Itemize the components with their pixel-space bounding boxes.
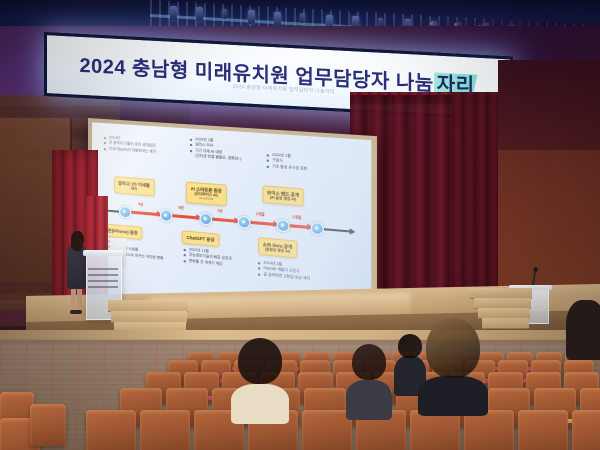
spotlight-icon xyxy=(196,7,203,21)
spotlight-icon xyxy=(274,12,281,26)
audience-seat xyxy=(464,410,514,450)
audience-seat xyxy=(86,410,136,450)
presenter-leg-right xyxy=(77,287,82,311)
above-1-bullets: 2016년큰 충격과 더불어 장차 생겨났던인공지능(AI)이 대중화되는 계기 xyxy=(104,135,156,154)
attendee-shoulders xyxy=(418,376,488,416)
timeline-node xyxy=(276,219,289,233)
spotlight-icon xyxy=(222,9,227,19)
below-2-bullets: 2022년 11월지능정보기술의 빠른 성장과변화를 전 세계가 체감 xyxy=(184,247,232,268)
attendee-head xyxy=(398,334,422,358)
audience-seat xyxy=(30,404,66,446)
timeline-segment-label: 1개월 xyxy=(292,214,301,220)
presenter-hair-back xyxy=(71,238,83,251)
podium-left-top xyxy=(83,250,123,256)
timeline-segment-label: 6년 xyxy=(179,204,184,210)
timeline-segment xyxy=(249,221,275,226)
below-3-chip-subtitle: (동영상 생성 AI) xyxy=(263,247,293,255)
timeline-node xyxy=(238,216,251,230)
audience-seat xyxy=(572,410,600,450)
attendee-head xyxy=(352,344,386,380)
spotlight-icon xyxy=(248,10,255,24)
timeline-node xyxy=(160,209,172,222)
timeline-node xyxy=(311,222,324,236)
below-3-bullets: 2024년 2월OpenAI 개발사 오픈사글 입력하면 고화질 영상 제작 xyxy=(258,260,310,282)
audience-seat xyxy=(302,410,352,450)
above-2-chip: AI 스마트폰 등장(온디바이스 AI)ON-DEVICE xyxy=(186,182,227,206)
above-1-chip: 알파고 VS 이세돌대국 xyxy=(114,176,155,197)
attendee-shoulders xyxy=(346,380,392,420)
above-3-chip: 보이스 밴드 공개(AI 음성 생성 AI) xyxy=(262,185,304,206)
attendee-head xyxy=(426,318,480,378)
below-2-chip-title: ChatGPT 등장 xyxy=(186,234,214,242)
timeline-segment-label: 9년 xyxy=(138,201,143,206)
below-2-chip: ChatGPT 등장 xyxy=(182,230,220,246)
timeline-node xyxy=(200,212,213,225)
auditorium-scene: 2024 충남형 미래유치원 업무담당자 나눔자리 2024 충남형 미래유치원… xyxy=(0,0,600,450)
presenter-shoes xyxy=(70,310,82,314)
above-2-bullets: 2024년 1월갤럭시 S24기기 자체 AI 내장(인터넷 연결 불필요, 정… xyxy=(190,137,241,162)
timeline-node xyxy=(119,206,131,219)
attendee-shoulders xyxy=(231,384,289,424)
audience-seat xyxy=(410,410,460,450)
timeline-segment xyxy=(130,211,159,216)
spotlight-icon xyxy=(170,6,177,20)
attendee-head xyxy=(238,338,282,384)
audience-seat xyxy=(140,410,190,450)
podium-left-text-panel xyxy=(88,268,118,290)
above-3-chip-subtitle: (AI 음성 생성 AI) xyxy=(267,195,299,202)
stage-stairs-right xyxy=(470,288,540,334)
timeline-segment xyxy=(171,214,198,219)
timeline-segment-label: 2년 xyxy=(217,208,222,214)
attendee-edge-right xyxy=(566,300,600,360)
timeline-segment-label: 1개월 xyxy=(256,211,265,217)
presenter-leg-left xyxy=(71,287,76,311)
below-3-chip: 소라 Sora 공개(동영상 생성 AI) xyxy=(258,237,297,259)
stair-step xyxy=(482,318,529,329)
timeline-segment xyxy=(211,217,236,222)
spotlight-icon xyxy=(300,13,305,23)
timeline-segment xyxy=(288,224,309,229)
audience-seat xyxy=(518,410,568,450)
above-3-bullets: 2024년 1월구글사기초 음성 유사성 표현 xyxy=(267,152,307,171)
